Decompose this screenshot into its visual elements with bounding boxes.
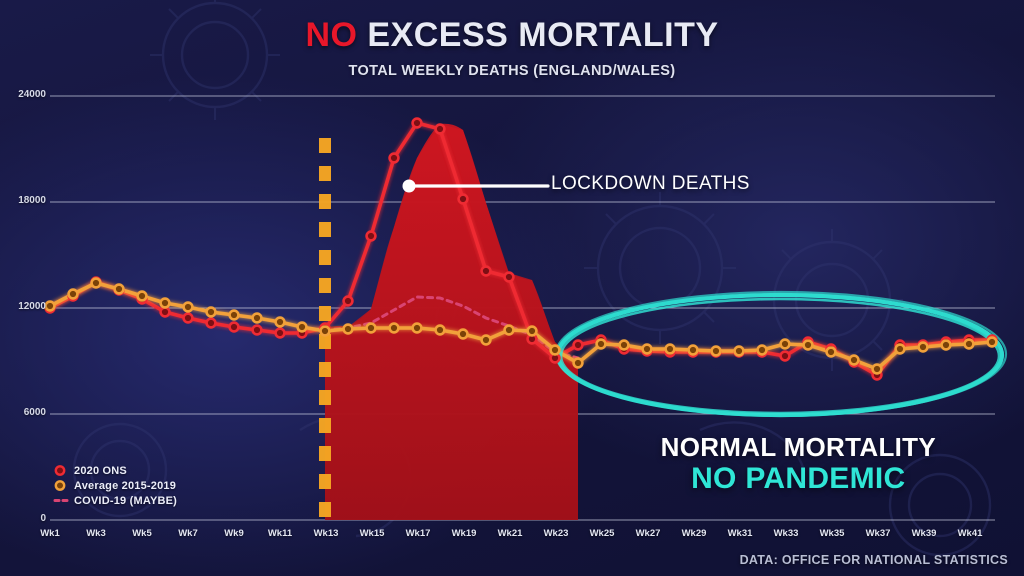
- normal-mortality-callout: NORMAL MORTALITY NO PANDEMIC: [661, 434, 936, 496]
- x-axis-tick-wk23: Wk23: [533, 528, 579, 539]
- legend-label-2020-ons: 2020 ONS: [74, 465, 127, 477]
- page-title: NO EXCESS MORTALITY: [0, 18, 1024, 52]
- y-axis-tick-6000: 6000: [2, 407, 46, 418]
- y-axis-tick-12000: 12000: [2, 301, 46, 312]
- x-axis-tick-wk37: Wk37: [855, 528, 901, 539]
- legend-marker-circle-icon: [52, 479, 74, 492]
- x-axis-tick-wk15: Wk15: [349, 528, 395, 539]
- y-axis-tick-24000: 24000: [2, 89, 46, 100]
- y-axis-tick-0: 0: [2, 513, 46, 524]
- x-axis-tick-wk41: Wk41: [947, 528, 993, 539]
- legend-marker-circle-icon: [52, 464, 74, 477]
- normal-mortality-line1: NORMAL MORTALITY: [661, 434, 936, 461]
- x-axis-tick-wk3: Wk3: [73, 528, 119, 539]
- x-axis-tick-wk7: Wk7: [165, 528, 211, 539]
- x-axis-tick-wk19: Wk19: [441, 528, 487, 539]
- chart-header: NO EXCESS MORTALITY TOTAL WEEKLY DEATHS …: [0, 18, 1024, 79]
- y-axis-tick-18000: 18000: [2, 195, 46, 206]
- x-axis-tick-wk31: Wk31: [717, 528, 763, 539]
- x-axis-tick-wk9: Wk9: [211, 528, 257, 539]
- series-2020-area-refined: [325, 124, 578, 520]
- x-axis-tick-wk21: Wk21: [487, 528, 533, 539]
- legend-item-2020-ons[interactable]: 2020 ONS: [52, 463, 177, 478]
- x-axis-tick-wk1: Wk1: [27, 528, 73, 539]
- x-axis-tick-wk35: Wk35: [809, 528, 855, 539]
- x-axis-tick-wk17: Wk17: [395, 528, 441, 539]
- x-axis-tick-wk11: Wk11: [257, 528, 303, 539]
- lockdown-deaths-callout: LOCKDOWN DEATHS: [551, 173, 750, 195]
- chart-subtitle: TOTAL WEEKLY DEATHS (ENGLAND/WALES): [0, 63, 1024, 79]
- title-accent: NO: [305, 16, 357, 54]
- x-axis-tick-wk5: Wk5: [119, 528, 165, 539]
- legend-item-average[interactable]: Average 2015-2019: [52, 478, 177, 493]
- legend-label-covid: COVID-19 (MAYBE): [74, 495, 177, 507]
- x-axis-tick-wk39: Wk39: [901, 528, 947, 539]
- legend-item-covid[interactable]: COVID-19 (MAYBE): [52, 493, 177, 508]
- x-axis-tick-wk27: Wk27: [625, 528, 671, 539]
- x-axis-tick-wk13: Wk13: [303, 528, 349, 539]
- no-pandemic-line2: NO PANDEMIC: [661, 463, 936, 495]
- source-attribution: DATA: OFFICE FOR NATIONAL STATISTICS: [740, 553, 1008, 567]
- x-axis-tick-wk25: Wk25: [579, 528, 625, 539]
- legend-label-average: Average 2015-2019: [74, 480, 176, 492]
- legend-marker-dashed-icon: [52, 494, 74, 507]
- x-axis-tick-wk29: Wk29: [671, 528, 717, 539]
- title-rest: EXCESS MORTALITY: [367, 16, 718, 54]
- chart-legend: 2020 ONS Average 2015-2019 COVID-19 (MAY…: [52, 463, 177, 508]
- x-axis-tick-wk33: Wk33: [763, 528, 809, 539]
